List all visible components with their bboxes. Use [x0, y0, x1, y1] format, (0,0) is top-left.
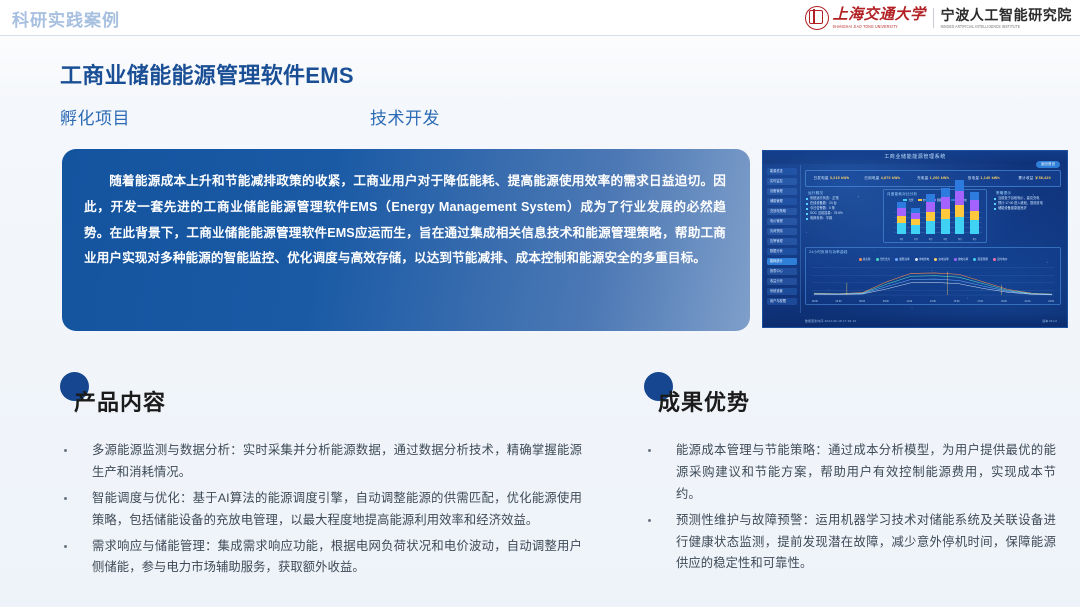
- section-heading-label: 成果优势: [658, 385, 750, 417]
- x-tick: 2月: [914, 237, 918, 241]
- dashboard-sidebar[interactable]: 能源总览 实时监控 设备管理 储能管理 充放电策略 电价管理 负荷预测 告警管理…: [764, 165, 801, 313]
- bar-group: [897, 202, 906, 234]
- line-chart-plot: [812, 264, 1054, 296]
- bar-chart-plot: [894, 212, 982, 234]
- slide-root: 科研实践案例 上海交通大学 SHANGHAI JIAO TONG UNIVERS…: [0, 0, 1080, 607]
- page-header: 科研实践案例 上海交通大学 SHANGHAI JIAO TONG UNIVERS…: [0, 0, 1080, 36]
- kpi-value: 4,870 kWh: [881, 176, 900, 180]
- dashboard-kpi: 放电量 1,140 kWh: [958, 176, 1009, 181]
- dashboard-footer-timestamp: 数据更新时间 2024-06-18 17:32:10: [805, 319, 856, 323]
- kpi-label: 充电量: [917, 176, 928, 180]
- bar-group: [941, 188, 950, 234]
- legend-entry: 放电功率: [954, 257, 969, 261]
- logo-group: 上海交通大学 SHANGHAI JIAO TONG UNIVERSITY 宁波人…: [805, 4, 1072, 32]
- x-tick: 11:00: [907, 301, 913, 303]
- line-chart-legend: 总负荷 光伏出力 储能功率 市电供电 充电功率 放电功率 需量预测 实时电价: [806, 257, 1060, 261]
- x-tick: 1月: [899, 237, 903, 241]
- university-name-cn: 上海交通大学: [833, 8, 926, 24]
- x-tick: 17:00: [977, 301, 983, 303]
- x-tick: 4月: [943, 237, 947, 241]
- dashboard-title: 工商业储能能源管理系统: [884, 153, 946, 160]
- list-item: 能源成本管理与节能策略：通过成本分析模型，为用户提供最优的能源采购建议和节能方案…: [646, 440, 1056, 506]
- dashboard-strategy-item: 储能设备健康度良好: [993, 206, 1063, 211]
- legend-entry: 光伏出力: [876, 257, 891, 261]
- subtitle-row: 孵化项目 技术开发: [60, 104, 580, 129]
- kpi-label: 放电量: [968, 176, 979, 180]
- bar-group: [911, 208, 920, 234]
- dashboard-sidebar-item[interactable]: 数据分析: [767, 248, 797, 255]
- x-tick: 06:00: [859, 301, 865, 303]
- dashboard-sidebar-item[interactable]: 收益分析: [767, 278, 797, 285]
- legend-entry: 总负荷: [859, 257, 871, 261]
- dashboard-strategy-panel-title: 策略提示: [993, 189, 1063, 196]
- dashboard-footer-version: 版本 V2.1.0: [1043, 319, 1057, 323]
- university-name-en: SHANGHAI JIAO TONG UNIVERSITY: [833, 24, 926, 29]
- dashboard-status-item: 电网负荷：平稳: [805, 216, 877, 221]
- kpi-label: 日发电量: [814, 176, 829, 180]
- university-name-block: 上海交通大学 SHANGHAI JIAO TONG UNIVERSITY: [833, 8, 926, 28]
- x-tick: 3月: [929, 237, 933, 241]
- dashboard-sidebar-item[interactable]: 系统设置: [767, 288, 797, 295]
- legend-entry: 市电供电: [915, 257, 930, 261]
- ems-dashboard-screenshot: 工商业储能能源管理系统 返回首页 能源总览 实时监控 设备管理 储能管理 充放电…: [762, 150, 1068, 328]
- bar-group: [970, 192, 979, 234]
- dashboard-sidebar-item[interactable]: 用户与权限: [767, 298, 797, 305]
- kpi-value: 3,215 kWh: [830, 176, 849, 180]
- x-tick: 19:00: [1001, 301, 1007, 303]
- list-item: 需求响应与储能管理：集成需求响应功能，根据电网负荷状况和电价波动，自动调整用户侧…: [62, 536, 582, 580]
- list-item: 多源能源监测与数据分析：实时采集并分析能源数据，通过数据分析技术，精确掌握能源生…: [62, 440, 582, 484]
- dashboard-sidebar-item[interactable]: 负荷预测: [767, 228, 797, 235]
- description-panel: 随着能源成本上升和节能减排政策的收紧，工商业用户对于降低能耗、提高能源使用效率的…: [62, 149, 750, 331]
- bar-group: [926, 194, 935, 234]
- x-tick: 21:00: [1025, 301, 1031, 303]
- page-title: 工商业储能能源管理软件EMS: [60, 58, 354, 90]
- bar-group: [955, 180, 964, 234]
- dashboard-sidebar-item[interactable]: 电价管理: [767, 218, 797, 225]
- x-tick: 03:00: [836, 301, 842, 303]
- dashboard-strategy-panel: 策略提示 当前处于谷段电价，建议充电 预计 17:00 进入峰段，提前放电 储能…: [993, 189, 1063, 243]
- x-tick: 5月: [958, 237, 962, 241]
- dashboard-sidebar-item[interactable]: 储能管理: [767, 198, 797, 205]
- dashboard-kpi: 充电量 1,260 kWh: [908, 176, 959, 181]
- list-item: 预测性维护与故障预警：运用机器学习技术对储能系统及关联设备进行健康状态监测，提前…: [646, 510, 1056, 576]
- line-chart-x-axis: 00:00 03:00 06:00 09:00 11:00 13:00 15:0…: [812, 301, 1054, 303]
- dashboard-sidebar-item[interactable]: 告警管理: [767, 238, 797, 245]
- x-tick: 6月: [973, 237, 977, 241]
- dashboard-kpi: 日发电量 3,215 kWh: [806, 176, 857, 181]
- legend-entry: 实时电价: [993, 257, 1008, 261]
- dashboard-status-panel: 运行概况 系统运行状态：正常 在线设备数：24 台 今日告警数：0 条 SOC …: [805, 189, 877, 243]
- dashboard-line-chart-title: 24小时负荷与功率曲线: [806, 248, 1060, 255]
- description-text: 随着能源成本上升和节能减排政策的收紧，工商业用户对于降低能耗、提高能源使用效率的…: [84, 169, 726, 272]
- kpi-value: ￥58,420: [1035, 176, 1051, 180]
- subtitle-project-type: 孵化项目: [60, 104, 370, 129]
- product-content-list: 多源能源监测与数据分析：实时采集并分析能源数据，通过数据分析技术，精确掌握能源生…: [62, 440, 582, 583]
- dashboard-kpi-bar: 日发电量 3,215 kWh 日用电量 4,870 kWh 充电量 1,260 …: [805, 170, 1061, 187]
- institute-name-en: NINGBO ARTIFICIAL INTELLIGENCE INSTITUTE: [941, 24, 1072, 29]
- x-tick: 15:00: [954, 301, 960, 303]
- subtitle-category: 技术开发: [370, 104, 440, 129]
- legend-entry: 充电功率: [934, 257, 949, 261]
- institute-name-cn: 宁波人工智能研究院: [941, 8, 1072, 23]
- header-divider: [0, 35, 1080, 36]
- dashboard-sidebar-item[interactable]: 报表中心: [767, 268, 797, 275]
- section-heading-label: 产品内容: [74, 385, 166, 417]
- dashboard-bar-chart-panel: 月度能耗对比分析 光伏 市电 储能放电 储能充电: [883, 189, 987, 243]
- dashboard-status-panel-title: 运行概况: [805, 189, 877, 196]
- dashboard-sidebar-item[interactable]: 充放电策略: [767, 208, 797, 215]
- x-tick: 00:00: [812, 301, 818, 303]
- x-tick: 23:00: [1048, 301, 1054, 303]
- legend-entry: 储能功率: [895, 257, 910, 261]
- header-title: 科研实践案例: [12, 6, 120, 31]
- dashboard-sidebar-item[interactable]: 实时监控: [767, 178, 797, 185]
- kpi-value: 1,140 kWh: [980, 176, 999, 180]
- dashboard-kpi: 累计收益 ￥58,420: [1009, 176, 1060, 181]
- dashboard-sidebar-item-active[interactable]: 能耗统计: [767, 258, 797, 265]
- bar-chart-x-axis: 1月 2月 3月 4月 5月 6月: [894, 237, 982, 241]
- dashboard-kpi: 日用电量 4,870 kWh: [857, 176, 908, 181]
- dashboard-sidebar-item[interactable]: 设备管理: [767, 188, 797, 195]
- x-tick: 09:00: [883, 301, 889, 303]
- dashboard-sidebar-item[interactable]: 能源总览: [767, 168, 797, 175]
- institute-name-block: 宁波人工智能研究院 NINGBO ARTIFICIAL INTELLIGENCE…: [941, 8, 1072, 27]
- achievement-advantage-list: 能源成本管理与节能策略：通过成本分析模型，为用户提供最优的能源采购建议和节能方案…: [646, 440, 1056, 579]
- dashboard-line-chart-panel: 24小时负荷与功率曲线 总负荷 光伏出力 储能功率 市电供电 充电功率 放电功率…: [805, 247, 1061, 305]
- dashboard-home-button[interactable]: 返回首页: [1036, 161, 1060, 168]
- kpi-label: 日用电量: [864, 176, 879, 180]
- logo-divider: [933, 8, 934, 28]
- x-tick: 13:00: [930, 301, 936, 303]
- university-seal-icon: [805, 6, 829, 30]
- list-item: 智能调度与优化：基于AI算法的能源调度引擎，自动调整能源的供需匹配，优化能源使用…: [62, 488, 582, 532]
- legend-entry: 需量预测: [973, 257, 988, 261]
- kpi-value: 1,260 kWh: [930, 176, 949, 180]
- kpi-label: 累计收益: [1018, 176, 1033, 180]
